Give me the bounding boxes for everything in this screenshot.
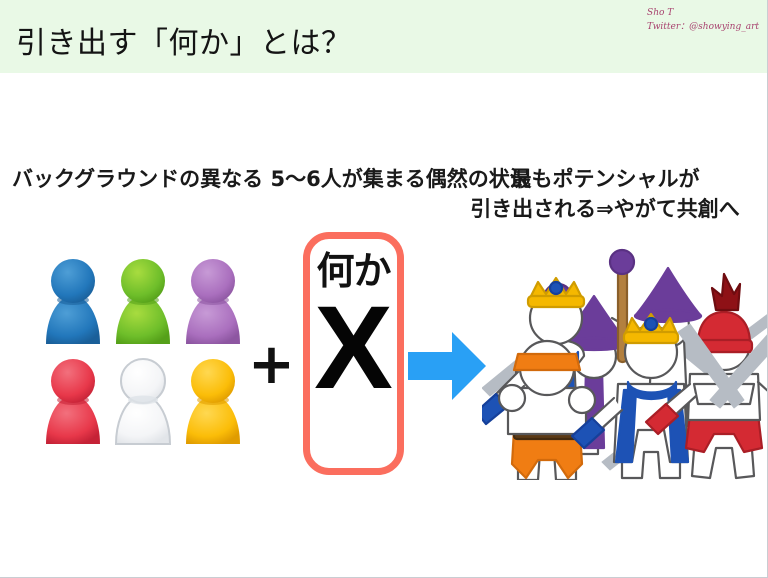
right-arrow-icon [408,330,486,402]
page-title: 引き出す「何か」とは？ [16,18,352,62]
pawn-purple [178,252,248,352]
right-caption-line1: 最もポテンシャルが [455,164,755,194]
credit-name: Sho T [647,6,759,20]
pawn-blue [38,252,108,352]
right-caption-line2: 引き出される⇒やがて共創へ [455,194,755,224]
plus-operator: + [248,336,292,394]
rpg-party-illustration [482,248,768,480]
right-caption: 最もポテンシャルが 引き出される⇒やがて共創へ [455,164,755,224]
mystery-box: 何か X [303,232,404,475]
left-caption: バックグラウンドの異なる 5〜6人が集まる偶然の状況 [12,164,531,194]
slide-root: 引き出す「何か」とは？ Sho T Twitter：@showying_art … [0,0,768,578]
pawn-yellow [178,352,248,452]
pawn-green [108,252,178,352]
pawn-red [38,352,108,452]
pawn-group [38,252,248,452]
pawn-white [108,352,178,452]
credit-twitter: Twitter：@showying_art [647,20,759,34]
mystery-box-symbol: X [310,289,397,407]
left-caption-line1: バックグラウンドの異なる [12,167,263,191]
credit-block: Sho T Twitter：@showying_art [647,6,759,34]
